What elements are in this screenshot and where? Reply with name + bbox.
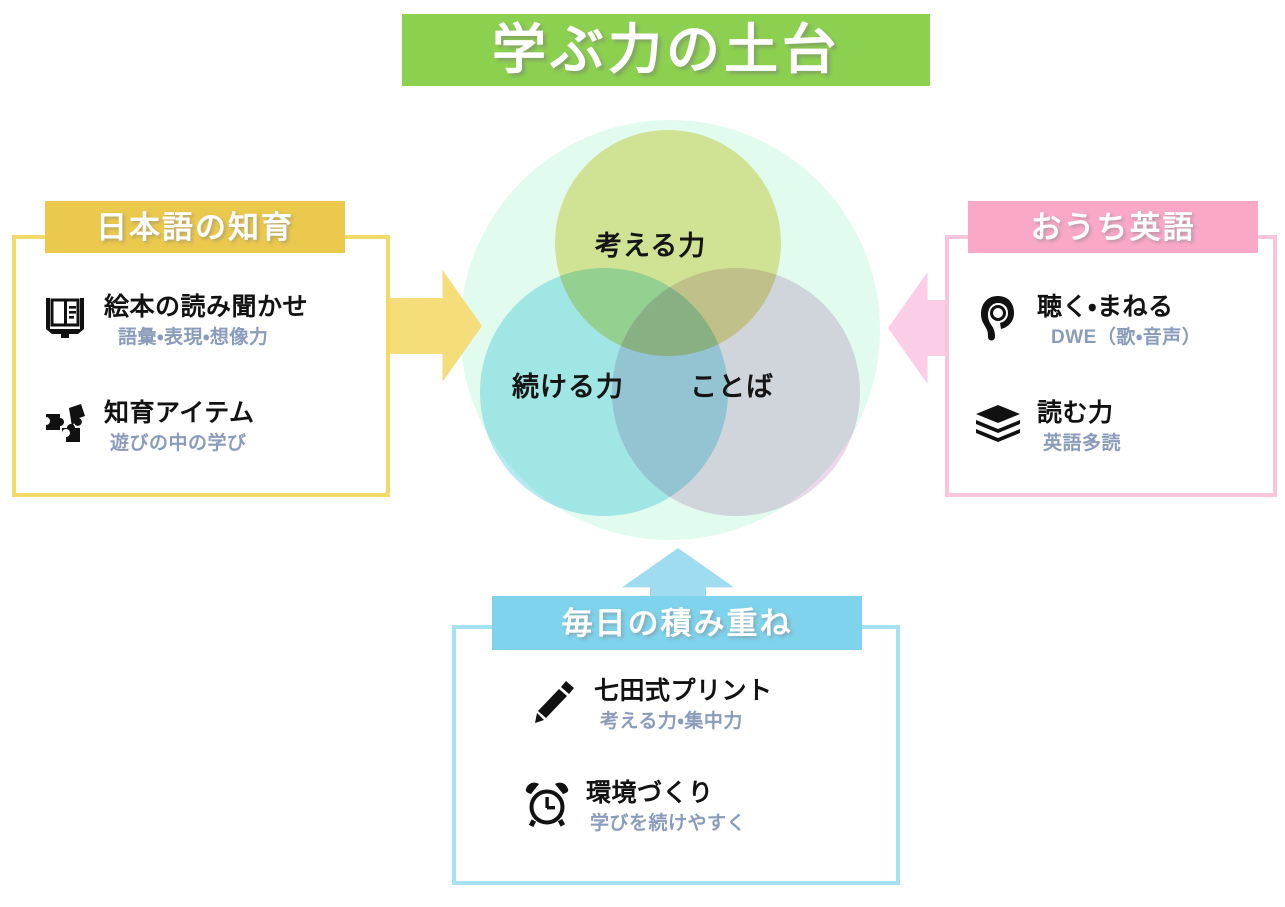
- alarm-clock-icon: [520, 777, 574, 831]
- list-item-title: 知育アイテム: [104, 399, 255, 427]
- page-title-banner: 学ぶ力の土台: [402, 14, 930, 86]
- list-item-subtitle: 英語多読: [1037, 432, 1121, 457]
- list-item-subtitle: 考える力・集中力: [594, 710, 773, 735]
- list-item-subtitle: 学びを続けやすく: [586, 812, 746, 837]
- venn-label-thinking: 考える力: [595, 224, 706, 263]
- venn-diagram: 考える力 続ける力 ことば: [460, 120, 880, 540]
- list-item: 環境づくり 学びを続けやすく: [520, 777, 746, 836]
- list-item-title: 環境づくり: [586, 779, 714, 807]
- puzzle-pieces-icon: [38, 397, 92, 451]
- panel-daily-accumulation: 七田式プリント 考える力・集中力: [452, 625, 900, 885]
- open-book-icon: [38, 291, 92, 345]
- list-item-subtitle: 遊びの中の学び: [104, 432, 255, 457]
- panel-header-daily-accumulation: 毎日の積み重ね: [492, 596, 862, 650]
- book-stack-icon: [971, 397, 1025, 451]
- list-item: 聴く・まねる DWE（歌・音声）: [971, 291, 1201, 350]
- list-item: 読む力 英語多読: [971, 397, 1121, 456]
- panel-header-label: おうち英語: [1031, 212, 1196, 243]
- list-item-title: 七田式プリント: [594, 677, 773, 705]
- venn-label-persistence: 続ける力: [512, 365, 624, 404]
- list-item-title: 読む力: [1037, 399, 1114, 427]
- pencil-icon: [528, 675, 582, 729]
- panel-home-english: 聴く・まねる DWE（歌・音声） 読む力 英語多読: [945, 235, 1277, 497]
- panel-header-label: 毎日の積み重ね: [562, 608, 793, 639]
- list-item: 七田式プリント 考える力・集中力: [528, 675, 773, 734]
- page-title: 学ぶ力の土台: [492, 23, 840, 77]
- panel-header-label: 日本語の知育: [96, 212, 294, 243]
- diagram-canvas: 学ぶ力の土台 考える力 続ける力 ことば: [0, 0, 1285, 907]
- panel-header-japanese-education: 日本語の知育: [45, 201, 345, 253]
- list-item: 絵本の読み聞かせ 語彙・表現・想像力: [38, 291, 308, 350]
- list-item-title: 絵本の読み聞かせ: [104, 293, 308, 321]
- venn-label-language: ことば: [690, 365, 774, 404]
- list-item: 知育アイテム 遊びの中の学び: [38, 397, 255, 456]
- panel-header-home-english: おうち英語: [968, 201, 1258, 253]
- panel-japanese-education: 絵本の読み聞かせ 語彙・表現・想像力 知育アイテム 遊びの中の学び: [12, 235, 390, 497]
- list-item-subtitle: DWE（歌・音声）: [1037, 326, 1201, 351]
- ear-icon: [971, 291, 1025, 345]
- list-item-title: 聴く・まねる: [1037, 293, 1174, 321]
- list-item-subtitle: 語彙・表現・想像力: [104, 326, 308, 351]
